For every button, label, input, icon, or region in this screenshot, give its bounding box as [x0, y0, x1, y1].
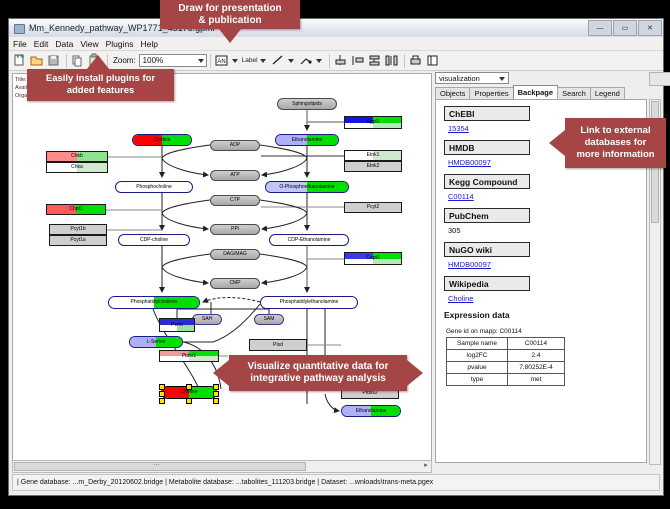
- metabolite-ethanolamine[interactable]: Ethanolamine: [275, 134, 339, 146]
- panel-top-strip: [649, 72, 670, 86]
- selection-handle[interactable]: [213, 391, 219, 397]
- copy-icon[interactable]: [70, 53, 85, 68]
- db-link-wikipedia[interactable]: Choline: [448, 294, 646, 303]
- metabolite-sphingolipids[interactable]: Sphingolipids: [277, 98, 337, 110]
- toolbar-separator: [66, 54, 67, 68]
- callout-visualize: Visualize quantitative data for integrat…: [229, 355, 407, 391]
- visualization-combobox[interactable]: visualization: [435, 72, 509, 84]
- node-label: Ethanolamine: [356, 409, 387, 414]
- menu-plugins[interactable]: Plugins: [106, 39, 134, 49]
- node-label: O-Phosphoethanolamine: [279, 185, 334, 190]
- cofactor-cmp[interactable]: CMP: [210, 278, 260, 289]
- gene-id-label: Gene id on mapp: C00114: [446, 328, 646, 335]
- properties-icon[interactable]: [425, 53, 440, 68]
- expression-key: pvalue: [447, 362, 508, 374]
- menu-bar: File Edit Data View Plugins Help: [9, 37, 663, 51]
- gene-chpt1[interactable]: Chpt1: [46, 204, 106, 215]
- gene-pcyt1b[interactable]: Pcyt1b: [49, 224, 107, 235]
- window-buttons: — ▭ ✕: [588, 20, 663, 36]
- new-icon[interactable]: [12, 53, 27, 68]
- node-label: Pcyt1b: [70, 227, 85, 232]
- align-left-icon[interactable]: [350, 53, 365, 68]
- metabolite-cdp-choline[interactable]: CDP-choline: [118, 234, 190, 246]
- gene-pcyt1a[interactable]: Pcyt1a: [49, 235, 107, 246]
- gene-ptdsr1[interactable]: Ptdsr1: [159, 350, 219, 362]
- cofactor-adp[interactable]: ADP: [210, 140, 260, 151]
- cofactor-sah[interactable]: SAH: [192, 314, 222, 325]
- callout-draw: Draw for presentation & publication: [160, 0, 300, 29]
- metabolite-phosphocholine[interactable]: Phosphocholine: [115, 181, 193, 193]
- status-text: | Gene database: ...m_Derby_20120602.bri…: [13, 479, 433, 486]
- selection-handle[interactable]: [213, 398, 219, 404]
- svg-text:AN: AN: [217, 59, 225, 65]
- chevron-down-icon-5[interactable]: [316, 59, 322, 63]
- expression-key: Sample name: [447, 338, 508, 350]
- db-header-pubchem: PubChem: [444, 208, 530, 223]
- node-label: Sgpl1: [367, 120, 380, 125]
- cofactor-label: SAH: [202, 317, 212, 322]
- table-row: log2FC 2.4: [447, 350, 565, 362]
- side-panel-tabs: Objects Properties Backpage Search Legen…: [435, 86, 659, 99]
- zoom-value: 100%: [143, 56, 163, 65]
- callout-links-line3: more information: [576, 149, 654, 161]
- title-bar: Mm_Kennedy_pathway_WP1771_45176.gpml — ▭…: [9, 19, 663, 38]
- db-link-kegg[interactable]: C00114: [448, 192, 646, 201]
- stack-icon[interactable]: [367, 53, 382, 68]
- callout-plugins-line1: Easily install plugins for: [46, 73, 155, 85]
- callout-links-arrow: [549, 130, 565, 156]
- callout-visualize-arrow-right: [407, 360, 423, 386]
- selection-handle[interactable]: [159, 398, 165, 404]
- callout-visualize-line2: integrative pathway analysis: [250, 373, 386, 385]
- node-label: Choline: [154, 138, 171, 143]
- callout-plugins-line2: added features: [67, 85, 135, 97]
- gene-pisd[interactable]: Pisd: [249, 339, 307, 351]
- menu-help[interactable]: Help: [141, 39, 158, 49]
- node-label: Choline: [181, 390, 198, 395]
- metabolite-phosphatidylethanolamine[interactable]: Phosphatidylethanolamine: [260, 296, 358, 309]
- expression-key: log2FC: [447, 350, 508, 362]
- gene-pcyt2[interactable]: Pcyt2: [344, 202, 402, 213]
- gene-chka[interactable]: Chka: [46, 162, 108, 173]
- cofactor-atp[interactable]: ATP: [210, 170, 260, 181]
- cofactor-ctp[interactable]: CTP: [210, 195, 260, 206]
- metabolite-ethanolamine-2[interactable]: Ethanolamine: [341, 405, 401, 417]
- gene-etnk1[interactable]: Etnk1: [344, 150, 402, 161]
- node-label: Ethanolamine: [292, 138, 323, 143]
- metabolite-l-serine-left[interactable]: L-Serine: [129, 336, 183, 348]
- node-label: Sphingolipids: [292, 102, 322, 107]
- screenshot-root: Mm_Kennedy_pathway_WP1771_45176.gpml — ▭…: [0, 0, 670, 509]
- callout-plugins-arrow: [87, 55, 109, 69]
- metabolite-choline[interactable]: Choline: [132, 134, 192, 146]
- node-label: Ptdss2: [362, 391, 377, 396]
- node-label: CDP-choline: [140, 238, 168, 243]
- callout-draw-arrow: [219, 29, 241, 43]
- cofactor-label: CMP: [229, 281, 240, 286]
- expression-value: 2.4: [508, 350, 565, 362]
- callout-plugins: Easily install plugins for added feature…: [27, 69, 174, 101]
- label-tool-text[interactable]: Label: [242, 57, 258, 64]
- pathway-connectors: [13, 74, 431, 460]
- metabolite-o-phosphoethanolamine[interactable]: O-Phosphoethanolamine: [265, 181, 349, 193]
- save-icon[interactable]: [46, 53, 61, 68]
- gene-etnk2[interactable]: Etnk2: [344, 161, 402, 172]
- node-label: Pemt: [171, 323, 183, 328]
- minimize-button[interactable]: —: [588, 20, 612, 36]
- node-label: Phosphocholine: [136, 185, 172, 190]
- visualization-value: visualization: [439, 74, 480, 83]
- db-header-hmdb: HMDB: [444, 140, 530, 155]
- line-icon[interactable]: [270, 53, 285, 68]
- db-header-chebi: ChEBI: [444, 106, 530, 121]
- node-label: Chka: [71, 165, 83, 170]
- cofactor-label: DAG/MAG: [223, 252, 247, 257]
- node-label: Phosphatidylethanolamine: [280, 300, 339, 305]
- selection-handle[interactable]: [186, 398, 192, 404]
- node-label: Phosphatidylcholines: [131, 300, 178, 305]
- node-label: Pcyt2: [367, 205, 380, 210]
- open-icon[interactable]: [29, 53, 44, 68]
- cofactor-label: SAM: [264, 317, 275, 322]
- metabolite-cdp-ethanolamine[interactable]: CDP-Ethanolamine: [269, 234, 349, 246]
- zoom-combobox[interactable]: 100%: [139, 54, 207, 67]
- node-label: Ptdsr1: [182, 354, 196, 359]
- node-label: Pcyt1a: [70, 238, 85, 243]
- chevron-down-icon: [198, 59, 204, 63]
- tab-backpage[interactable]: Backpage: [513, 85, 558, 99]
- datanode-icon[interactable]: AN: [214, 53, 229, 68]
- callout-visualize-line1: Visualize quantitative data for: [248, 361, 389, 373]
- node-label: L-Serine: [147, 340, 166, 345]
- tab-objects[interactable]: Objects: [435, 87, 470, 99]
- tab-legend[interactable]: Legend: [590, 87, 625, 99]
- gene-cept1[interactable]: Cept1: [344, 252, 402, 265]
- callout-draw-line1: Draw for presentation: [178, 3, 281, 15]
- zoom-label: Zoom:: [113, 56, 136, 65]
- table-row: pvalue 7.80252E-4: [447, 362, 565, 374]
- db-header-wikipedia: Wikipedia: [444, 276, 530, 291]
- db-header-kegg: Kegg Compound: [444, 174, 530, 189]
- node-label: Cept1: [366, 256, 379, 261]
- expression-value: 7.80252E-4: [508, 362, 565, 374]
- chevron-down-icon-2[interactable]: [232, 59, 238, 63]
- node-label: Chpt1: [69, 207, 82, 212]
- cofactor-sam[interactable]: SAM: [254, 314, 284, 325]
- toolbar-separator-5: [404, 54, 405, 68]
- menu-edit[interactable]: Edit: [34, 39, 49, 49]
- toolbar-separator-4: [329, 54, 330, 68]
- maximize-button[interactable]: ▭: [613, 20, 637, 36]
- cofactor-label: PPi: [231, 227, 239, 232]
- distribute-icon[interactable]: [384, 53, 399, 68]
- menu-file[interactable]: File: [13, 39, 27, 49]
- selection-handle[interactable]: [186, 384, 192, 390]
- selection-handle[interactable]: [159, 384, 165, 390]
- chevron-down-icon-4[interactable]: [288, 59, 294, 63]
- menu-view[interactable]: View: [80, 39, 98, 49]
- callout-visualize-arrow-left: [213, 360, 229, 386]
- node-label: Chkb: [71, 154, 83, 159]
- db-header-nugowiki: NuGO wiki: [444, 242, 530, 257]
- tab-properties[interactable]: Properties: [469, 87, 513, 99]
- print-icon[interactable]: [408, 53, 423, 68]
- chevron-down-icon-3[interactable]: [260, 59, 266, 63]
- table-row: Sample name C00114: [447, 338, 565, 350]
- pathway-canvas[interactable]: Title: Availa Organ: [12, 73, 432, 461]
- callout-links-line2: databases for: [585, 137, 647, 149]
- interaction-icon[interactable]: [298, 53, 313, 68]
- canvas-hscrollbar[interactable]: ◂ ⋯ ▸: [12, 460, 432, 473]
- node-label: CDP-Ethanolamine: [288, 238, 331, 243]
- align-top-icon[interactable]: [333, 53, 348, 68]
- gene-pemt[interactable]: Pemt: [159, 318, 195, 332]
- callout-links: Link to external databases for more info…: [565, 118, 666, 168]
- expression-data-heading: Expression data: [444, 310, 646, 320]
- cofactor-label: ATP: [230, 173, 239, 178]
- metabolite-phosphatidylcholines[interactable]: Phosphatidylcholines: [108, 296, 200, 309]
- toolbar-separator-3: [210, 54, 211, 68]
- chevron-down-icon-visualization: [499, 77, 505, 81]
- app-icon: [13, 23, 25, 34]
- status-bar: | Gene database: ...m_Derby_20120602.bri…: [12, 474, 660, 491]
- cofactor-label: ADP: [230, 143, 240, 148]
- expression-key: type: [447, 374, 508, 386]
- expression-value: C00114: [508, 338, 565, 350]
- selection-handle[interactable]: [159, 391, 165, 397]
- cofactor-label: CTP: [230, 198, 240, 203]
- cofactor-ppi[interactable]: PPi: [210, 224, 260, 235]
- db-value-pubchem: 305: [448, 226, 646, 235]
- node-label: Pisd: [273, 343, 283, 348]
- tab-search[interactable]: Search: [557, 87, 591, 99]
- scroll-grip: ⋯: [153, 462, 160, 469]
- scroll-thumb[interactable]: [14, 462, 306, 471]
- callout-draw-line2: & publication: [198, 15, 261, 27]
- expression-table: Sample name C00114 log2FC 2.4 pvalue 7.8…: [446, 337, 565, 386]
- menu-data[interactable]: Data: [55, 39, 73, 49]
- table-row: type met: [447, 374, 565, 386]
- cofactor-dagmag[interactable]: DAG/MAG: [210, 249, 260, 260]
- expression-value: met: [508, 374, 565, 386]
- node-label: Etnk1: [367, 153, 380, 158]
- db-link-nugowiki[interactable]: HMDB00097: [448, 260, 646, 269]
- scroll-right-arrow[interactable]: ▸: [421, 461, 431, 470]
- gene-chkb[interactable]: Chkb: [46, 151, 108, 162]
- gene-sgpl1[interactable]: Sgpl1: [344, 116, 402, 129]
- close-button[interactable]: ✕: [638, 20, 662, 36]
- node-label: Etnk2: [367, 164, 380, 169]
- callout-links-line1: Link to external: [580, 125, 650, 137]
